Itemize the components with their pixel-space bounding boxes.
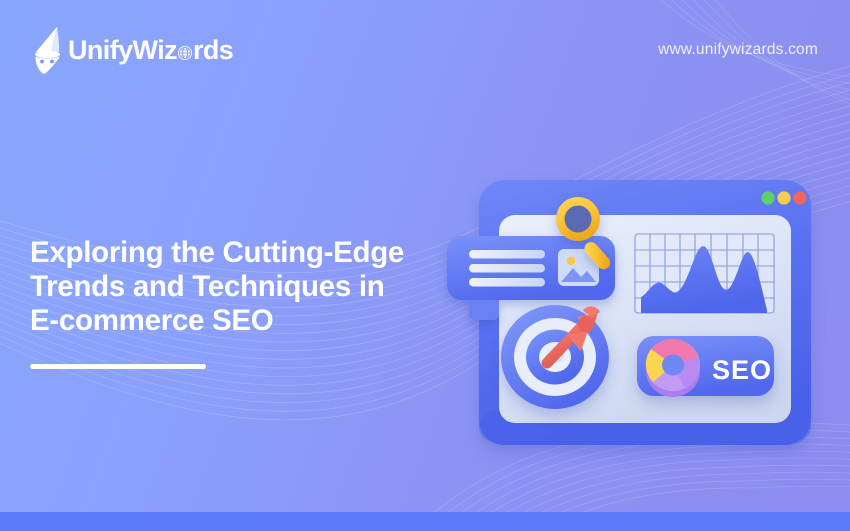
- card-text-lines: [469, 250, 545, 287]
- brand-logo[interactable]: UnifyWiz rds: [26, 25, 233, 75]
- target-dartboard-icon: [501, 305, 609, 409]
- wizard-hat-icon: [26, 25, 72, 75]
- hero-text-block: Exploring the Cutting-Edge Trends and Te…: [30, 236, 460, 369]
- window-dot-green: [761, 191, 774, 204]
- area-chart-grid: [635, 234, 774, 313]
- banner-header: UnifyWiz rds www.unifywizards.com: [0, 0, 850, 100]
- headline-line-2: Trends and Techniques in: [30, 270, 460, 304]
- globe-icon: [177, 37, 193, 64]
- seo-dashboard-3d-illustration: SEO: [455, 158, 835, 458]
- window-dot-yellow: [777, 191, 790, 204]
- seo-button: SEO: [637, 336, 774, 397]
- seo-button-label: SEO: [712, 355, 772, 385]
- window-dot-red: [793, 191, 806, 204]
- window-control-dots: [761, 191, 806, 204]
- brand-logo-text: UnifyWiz rds: [68, 37, 233, 64]
- seo-promo-banner: UnifyWiz rds www.unifywizards.com Explor…: [0, 0, 850, 531]
- headline-underline-rule: [30, 364, 206, 369]
- headline-line-1: Exploring the Cutting-Edge: [30, 236, 460, 270]
- bottom-accent-bar: [0, 512, 850, 531]
- logo-text-unify: Unify: [68, 35, 133, 65]
- website-url[interactable]: www.unifywizards.com: [658, 41, 818, 59]
- page-title: Exploring the Cutting-Edge Trends and Te…: [30, 236, 460, 338]
- logo-text-wiz: Wiz: [133, 35, 177, 65]
- donut-chart-icon: [646, 339, 700, 397]
- headline-line-3: E-commerce SEO: [30, 304, 460, 338]
- logo-text-rds: rds: [193, 35, 233, 65]
